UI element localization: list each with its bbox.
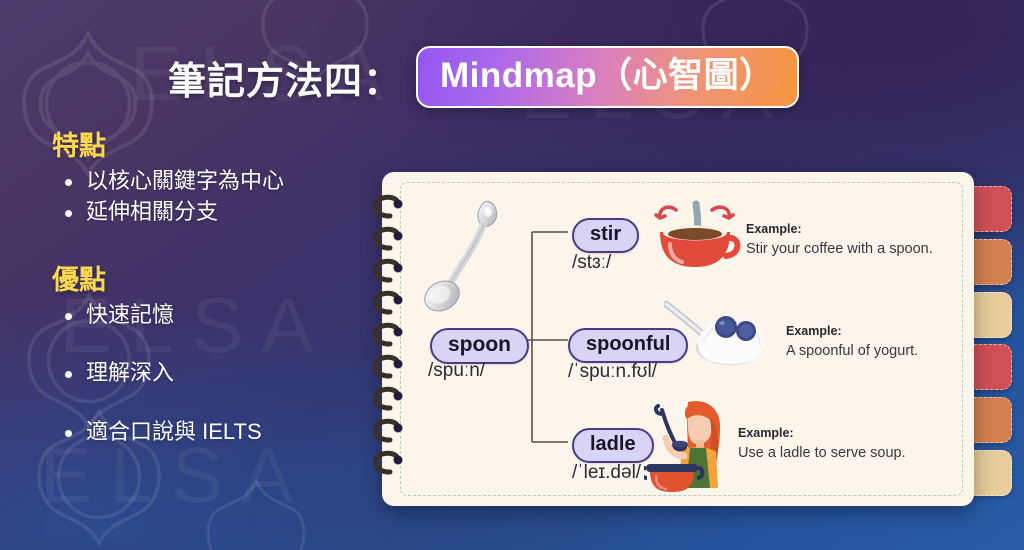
section-title-features: 特點 xyxy=(52,124,372,163)
section-title-advantages: 優點 xyxy=(52,258,372,297)
left-content-column: 特點 以核心關鍵字為中心 延伸相關分支 優點 快速記憶 理解深入 適合口說與 I… xyxy=(0,124,372,476)
list-item: 延伸相關分支 xyxy=(86,198,372,226)
method-badge-label: Mindmap（心智圖） xyxy=(440,56,775,95)
mindmap-node-stir[interactable]: stir xyxy=(572,218,639,253)
mindmap-ipa-stir: /stɜː/ xyxy=(572,252,611,274)
example-block-spoonful: Example: A spoonful of yogurt. xyxy=(786,324,996,360)
example-block-ladle: Example: Use a ladle to serve soup. xyxy=(738,426,948,462)
notebook-card: spoon /spuːn/ stir /stɜː/ spoonful /ˈspu… xyxy=(382,172,974,506)
slide-canvas: ELSA ELSA ELSA ELSA 筆記方法四： Mindmap（心智圖） xyxy=(0,0,1024,550)
mindmap-node-ladle[interactable]: ladle xyxy=(572,428,654,463)
advantages-list: 快速記憶 理解深入 適合口說與 IELTS xyxy=(0,301,372,445)
list-item: 以核心關鍵字為中心 xyxy=(86,167,372,195)
list-item: 快速記憶 xyxy=(86,301,372,329)
example-block-stir: Example: Stir your coffee with a spoon. xyxy=(746,222,956,258)
list-item: 適合口說與 IELTS xyxy=(86,418,372,446)
mindmap-ipa-ladle: /ˈleɪ.dəl/ xyxy=(572,462,641,484)
woman-ladling-soup-illustration-icon xyxy=(644,396,744,494)
page-title: 筆記方法四： xyxy=(168,50,402,105)
features-list: 以核心關鍵字為中心 延伸相關分支 xyxy=(0,167,372,226)
example-label: Example: xyxy=(746,222,956,236)
headline-row: 筆記方法四： Mindmap（心智圖） xyxy=(168,46,799,108)
spiral-binding-icon xyxy=(368,190,408,490)
star-ornament-icon-6 xyxy=(196,474,316,550)
example-label: Example: xyxy=(786,324,996,338)
example-label: Example: xyxy=(738,426,948,440)
example-text: Stir your coffee with a spoon. xyxy=(746,240,956,258)
mindmap-ipa-root: /spuːn/ xyxy=(428,360,485,382)
method-badge: Mindmap（心智圖） xyxy=(416,46,799,108)
spoon-illustration-icon xyxy=(424,196,506,318)
mindmap-ipa-spoonful: /ˈspuːn.fʊl/ xyxy=(568,361,657,383)
list-item: 理解深入 xyxy=(86,359,372,387)
mindmap-node-root[interactable]: spoon xyxy=(430,328,529,364)
coffee-cup-illustration-icon xyxy=(648,192,746,272)
example-text: A spoonful of yogurt. xyxy=(786,342,996,360)
mindmap-node-spoonful[interactable]: spoonful xyxy=(568,328,688,363)
example-text: Use a ladle to serve soup. xyxy=(738,444,948,462)
